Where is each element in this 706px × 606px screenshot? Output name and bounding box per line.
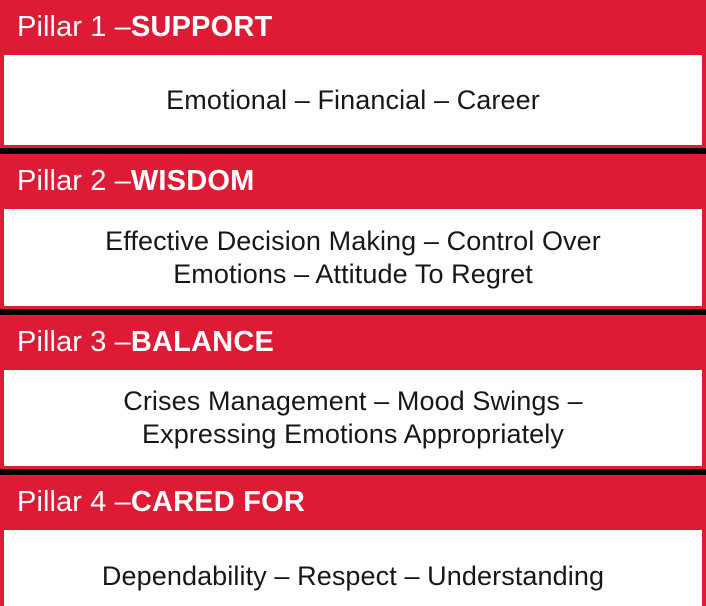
pillar-section-4: Pillar 4 – CARED FOR Dependability – Res… bbox=[0, 475, 706, 606]
pillar-title-3: BALANCE bbox=[131, 328, 274, 357]
pillar-body-text-3: Crises Management – Mood Swings – Expres… bbox=[123, 385, 583, 451]
pillar-body-line-4-1: Dependability – Respect – Understanding bbox=[102, 561, 604, 591]
pillar-body-line-1-1: Emotional – Financial – Career bbox=[166, 85, 540, 115]
pillar-header-3: Pillar 3 – BALANCE bbox=[0, 315, 706, 370]
pillar-prefix-3: Pillar 3 – bbox=[17, 328, 131, 357]
pillar-body-line-2-2: Emotions – Attitude To Regret bbox=[173, 259, 533, 289]
pillar-title-2: WISDOM bbox=[131, 167, 255, 196]
pillar-header-4: Pillar 4 – CARED FOR bbox=[0, 475, 706, 530]
pillar-body-text-2: Effective Decision Making – Control Over… bbox=[105, 225, 601, 291]
pillar-section-1: Pillar 1 – SUPPORT Emotional – Financial… bbox=[0, 0, 706, 148]
pillar-title-4: CARED FOR bbox=[131, 488, 305, 517]
pillar-body-line-3-2: Expressing Emotions Appropriately bbox=[142, 419, 564, 449]
pillar-header-1: Pillar 1 – SUPPORT bbox=[0, 0, 706, 55]
pillar-prefix-4: Pillar 4 – bbox=[17, 488, 131, 517]
four-pillars-infographic: Pillar 1 – SUPPORT Emotional – Financial… bbox=[0, 0, 706, 606]
pillar-body-1: Emotional – Financial – Career bbox=[0, 55, 706, 148]
pillar-body-text-4: Dependability – Respect – Understanding bbox=[102, 560, 604, 593]
pillar-section-3: Pillar 3 – BALANCE Crises Management – M… bbox=[0, 315, 706, 469]
pillar-title-1: SUPPORT bbox=[131, 13, 273, 42]
pillar-body-2: Effective Decision Making – Control Over… bbox=[0, 209, 706, 309]
pillar-body-line-2-1: Effective Decision Making – Control Over bbox=[105, 226, 601, 256]
pillar-section-2: Pillar 2 – WISDOM Effective Decision Mak… bbox=[0, 154, 706, 309]
pillar-prefix-1: Pillar 1 – bbox=[17, 13, 131, 42]
pillar-body-text-1: Emotional – Financial – Career bbox=[166, 84, 540, 117]
pillar-body-line-3-1: Crises Management – Mood Swings – bbox=[123, 386, 583, 416]
pillar-body-3: Crises Management – Mood Swings – Expres… bbox=[0, 370, 706, 469]
pillar-header-2: Pillar 2 – WISDOM bbox=[0, 154, 706, 209]
pillar-body-4: Dependability – Respect – Understanding bbox=[0, 530, 706, 606]
pillar-prefix-2: Pillar 2 – bbox=[17, 167, 131, 196]
